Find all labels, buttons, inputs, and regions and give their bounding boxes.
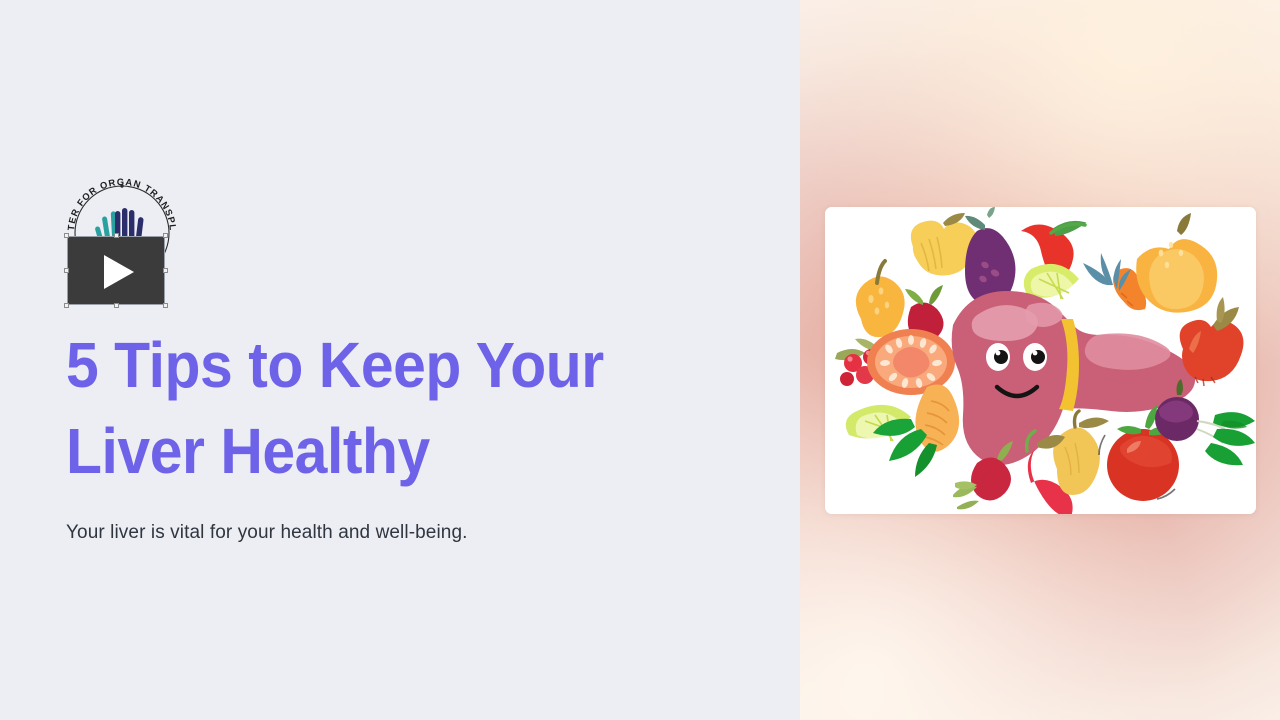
slide-canvas: CENTER FOR ORGAN TRANSPLANT A GIFT OF LI… bbox=[0, 0, 1280, 720]
tomato-slice-shape bbox=[867, 329, 955, 395]
resize-handle-top-left[interactable] bbox=[64, 233, 69, 238]
resize-handle-top-right[interactable] bbox=[163, 233, 168, 238]
left-content-panel: CENTER FOR ORGAN TRANSPLANT A GIFT OF LI… bbox=[0, 0, 800, 720]
resize-handle-middle-left[interactable] bbox=[64, 268, 69, 273]
liver-illustration bbox=[825, 207, 1256, 514]
page-title: 5 Tips to Keep Your Liver Healthy bbox=[66, 322, 673, 494]
page-subtitle: Your liver is vital for your health and … bbox=[66, 522, 468, 544]
right-visual-panel bbox=[800, 0, 1280, 720]
resize-handle-top-center[interactable] bbox=[114, 233, 119, 238]
video-player[interactable] bbox=[67, 236, 165, 305]
video-screen[interactable] bbox=[67, 236, 165, 305]
play-icon[interactable] bbox=[104, 255, 134, 289]
resize-handle-middle-right[interactable] bbox=[163, 268, 168, 273]
resize-handle-bottom-center[interactable] bbox=[114, 303, 119, 308]
resize-handle-bottom-left[interactable] bbox=[64, 303, 69, 308]
illustration-card bbox=[825, 207, 1256, 514]
resize-handle-bottom-right[interactable] bbox=[163, 303, 168, 308]
